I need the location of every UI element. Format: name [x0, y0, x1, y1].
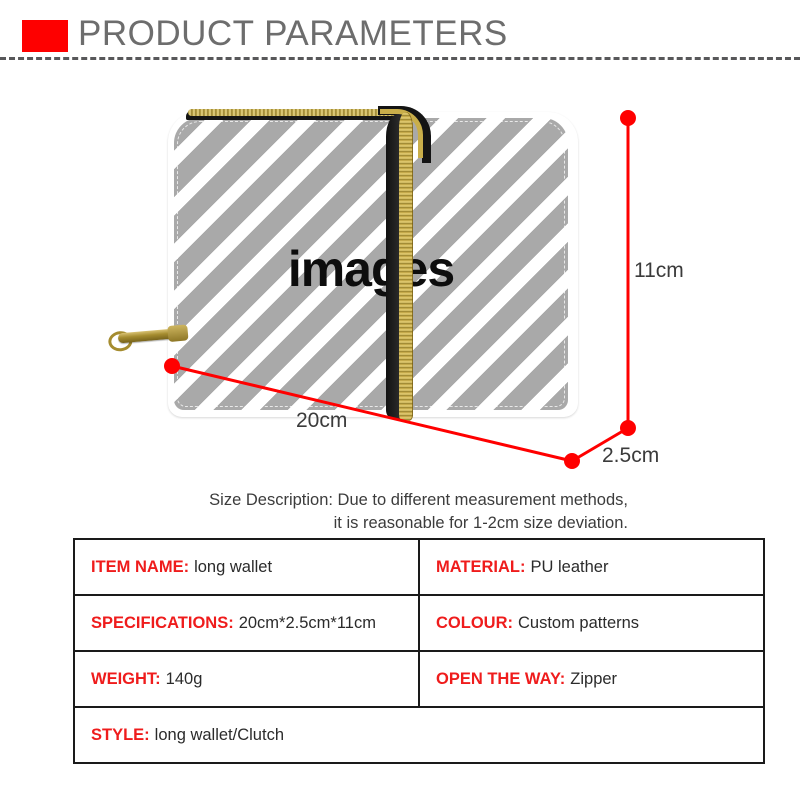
spec-key: ITEM NAME:: [91, 558, 189, 576]
spec-value: PU leather: [531, 558, 609, 576]
specification-table: ITEM NAME:long wallet MATERIAL:PU leathe…: [73, 538, 765, 764]
wallet-spine: [384, 114, 418, 419]
zipper-teeth-side: [399, 112, 413, 421]
page-header: PRODUCT PARAMETERS: [0, 0, 800, 60]
table-row: WEIGHT:140g OPEN THE WAY:Zipper: [74, 651, 764, 707]
table-row: SPECIFICATIONS:20cm*2.5cm*11cm COLOUR:Cu…: [74, 595, 764, 651]
spec-cell-weight: WEIGHT:140g: [74, 651, 419, 707]
spec-cell-material: MATERIAL:PU leather: [419, 539, 764, 595]
spec-key: OPEN THE WAY:: [436, 670, 565, 688]
spec-value: 140g: [166, 670, 203, 688]
spec-value: Custom patterns: [518, 614, 639, 632]
spec-key: WEIGHT:: [91, 670, 161, 688]
size-description: Size Description: Due to different measu…: [140, 489, 628, 535]
spec-cell-open-the-way: OPEN THE WAY:Zipper: [419, 651, 764, 707]
spec-cell-colour: COLOUR:Custom patterns: [419, 595, 764, 651]
spec-value: 20cm*2.5cm*11cm: [239, 614, 376, 632]
dimension-label-width: 20cm: [296, 409, 347, 433]
spec-key: COLOUR:: [436, 614, 513, 632]
spec-cell-style: STYLE:long wallet/Clutch: [74, 707, 764, 763]
zipper-teeth-top: [188, 109, 396, 116]
watermark-text: images: [174, 244, 568, 294]
size-description-line1: Size Description: Due to different measu…: [209, 491, 628, 509]
zipper-top: [186, 108, 400, 122]
spec-value: long wallet/Clutch: [155, 726, 284, 744]
table-row: STYLE:long wallet/Clutch: [74, 707, 764, 763]
spec-key: STYLE:: [91, 726, 150, 744]
table-row: ITEM NAME:long wallet MATERIAL:PU leathe…: [74, 539, 764, 595]
wallet-body: images: [168, 112, 578, 417]
spec-value: Zipper: [570, 670, 617, 688]
header-accent-swatch: [22, 20, 68, 52]
spec-cell-item-name: ITEM NAME:long wallet: [74, 539, 419, 595]
zipper-slider: [167, 324, 188, 342]
dimension-label-depth: 2.5cm: [602, 444, 659, 468]
page-title: PRODUCT PARAMETERS: [78, 13, 508, 55]
spec-value: long wallet: [194, 558, 272, 576]
spec-key: SPECIFICATIONS:: [91, 614, 234, 632]
spec-key: MATERIAL:: [436, 558, 526, 576]
spec-cell-specifications: SPECIFICATIONS:20cm*2.5cm*11cm: [74, 595, 419, 651]
size-description-line2: it is reasonable for 1-2cm size deviatio…: [334, 514, 628, 532]
wallet-striped-face: images: [174, 118, 568, 410]
dimension-label-height: 11cm: [634, 259, 684, 283]
